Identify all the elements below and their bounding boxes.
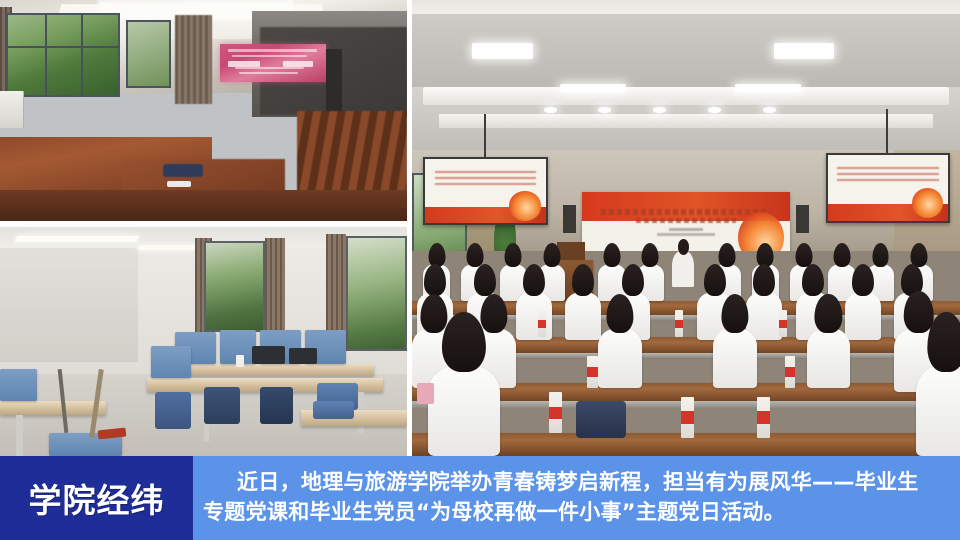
side-display-text: [837, 167, 938, 184]
student: [516, 292, 552, 340]
wall-speaker: [563, 205, 576, 232]
window: [204, 241, 265, 333]
photo-collage: [0, 0, 960, 456]
screen-subtext: [669, 228, 702, 231]
downlight: [598, 107, 611, 112]
window-mullion: [6, 46, 120, 48]
bottom-banner: 学院经纬 近日，地理与旅游学院举办青春铸梦启新程，担当有为展风华——毕业生 专题…: [0, 456, 960, 540]
ceiling-cove: [423, 87, 949, 105]
student: [845, 292, 881, 340]
curtain: [265, 238, 285, 343]
strip-light: [137, 245, 196, 250]
student: [713, 328, 757, 387]
chair: [204, 387, 241, 424]
ceiling-light-panel: [472, 43, 532, 59]
side-display-right: [826, 153, 951, 223]
wall-shadow: [0, 248, 138, 363]
chair: [313, 401, 354, 419]
water-bottle: [236, 355, 244, 366]
curtain-center: [175, 15, 212, 103]
student: [807, 328, 851, 387]
podium-top: [557, 242, 584, 260]
ceiling-light-strip: [560, 84, 626, 91]
phone-in-hand: [417, 383, 433, 404]
desk: [0, 401, 106, 415]
wall-speaker: [796, 205, 809, 232]
window: [346, 236, 407, 351]
student: [565, 292, 601, 340]
student: [598, 328, 642, 387]
speaker: [326, 49, 342, 120]
chair: [155, 392, 192, 429]
window-mullion: [81, 13, 83, 97]
downlight: [544, 107, 557, 112]
photo-lecture-hall: [412, 0, 960, 456]
chair: [260, 387, 293, 424]
monitor: [252, 346, 285, 364]
side-display-text: [435, 171, 536, 188]
desk-leg: [16, 415, 23, 456]
student-front: [428, 365, 499, 456]
ceiling-cove: [439, 114, 932, 128]
phone-on-table: [167, 181, 191, 187]
lecturer-head: [678, 239, 689, 255]
air-conditioner: [0, 91, 24, 129]
ceiling-light-panel: [774, 43, 834, 59]
lecturer: [672, 251, 694, 287]
downlight: [653, 107, 666, 112]
screen-headline-text: [601, 209, 772, 215]
desk-partition: [151, 346, 192, 378]
downlight: [763, 107, 776, 112]
banner-label-panel: 学院经纬: [0, 456, 193, 540]
banner-text-line-1: 近日，地理与旅游学院举办青春铸梦启新程，担当有为展风华——毕业生: [203, 468, 946, 498]
floor: [0, 190, 407, 221]
banner-text-line-2: 专题党课和毕业生党员“为母校再做一件小事”主题党日活动。: [203, 498, 946, 528]
screen-date: [657, 233, 715, 236]
side-display-emblem: [509, 191, 540, 220]
desk-partition: [0, 369, 37, 401]
strip-light: [15, 236, 140, 242]
ceiling-light-strip: [735, 84, 801, 91]
side-display-left: [423, 157, 548, 225]
banner-label: 学院经纬: [29, 474, 165, 522]
monitor: [289, 348, 317, 364]
led-screen: [220, 44, 326, 82]
photo-study-room-cleaning: [0, 227, 407, 456]
window-left: [6, 13, 120, 97]
student-front: [916, 365, 960, 456]
display-mount: [886, 109, 888, 155]
screenshot-root: 学院经纬 近日，地理与旅游学院举办青春铸梦启新程，担当有为展风华——毕业生 专题…: [0, 0, 960, 540]
screen-headline-text2: [636, 218, 736, 223]
window-mullion: [45, 13, 47, 97]
desk: [171, 364, 375, 375]
downlight: [708, 107, 721, 112]
handbag: [576, 401, 625, 437]
bag-on-table: [163, 164, 204, 177]
photo-oath-meeting: [0, 0, 407, 221]
banner-text-panel: 近日，地理与旅游学院举办青春铸梦启新程，担当有为展风华——毕业生 专题党课和毕业…: [193, 456, 960, 540]
window-center: [126, 20, 171, 89]
